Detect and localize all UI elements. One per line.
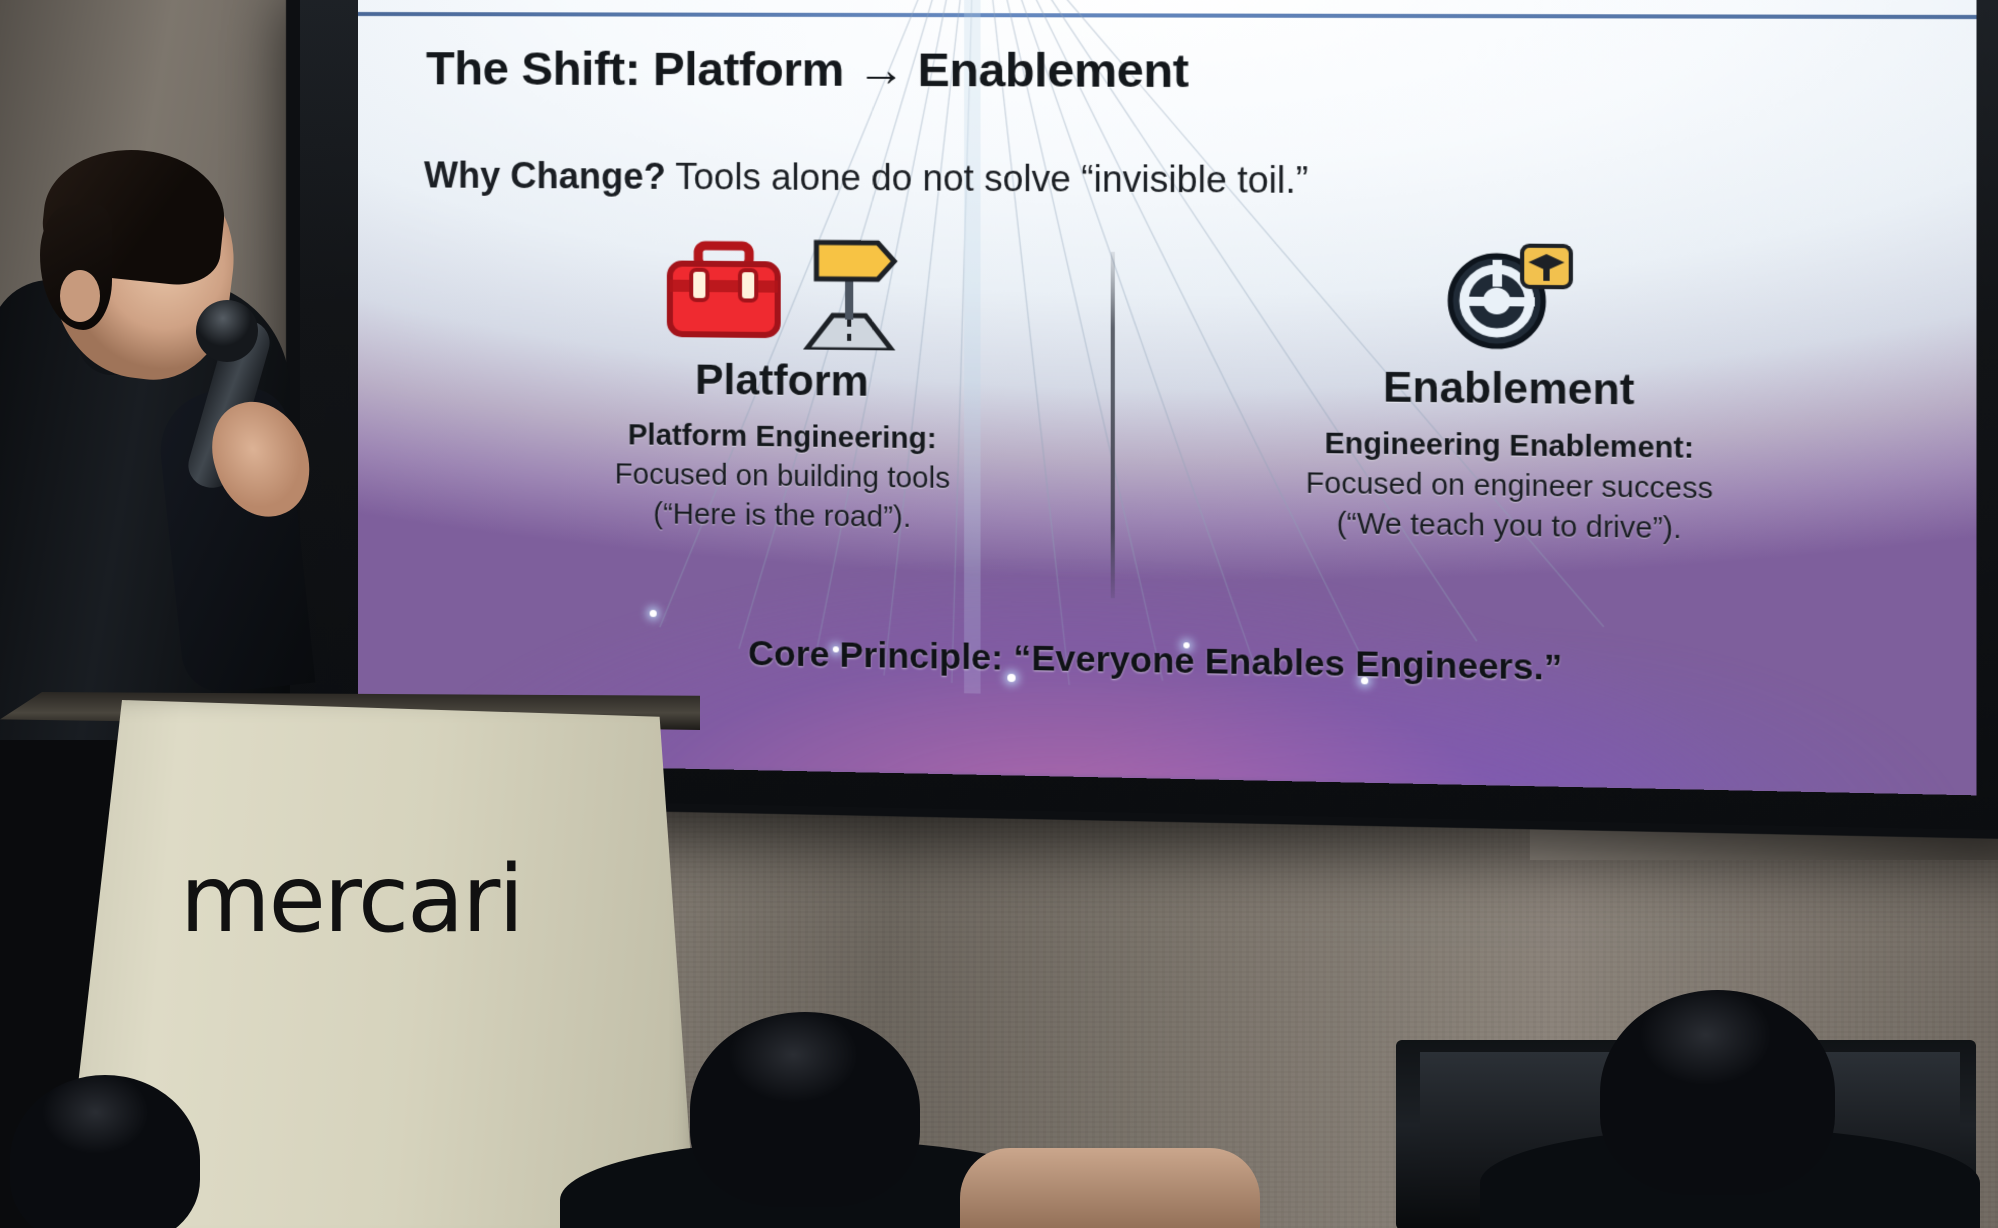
- podium-brand-logo: mercari: [180, 845, 600, 955]
- road-sign-icon: [798, 236, 900, 350]
- presentation-slide: The Shift: Platform → Enablement Why Cha…: [358, 0, 1977, 795]
- column-platform-lead: Platform Engineering:: [468, 417, 1100, 458]
- enablement-icon-row: [1183, 236, 1838, 363]
- column-enablement-line-2: (“We teach you to drive”).: [1183, 505, 1838, 548]
- slide-subtitle-lead: Why Change?: [424, 154, 666, 197]
- audience-head-center: [690, 1012, 920, 1207]
- audience-head-right: [1600, 990, 1835, 1195]
- slide-subtitle-rest: Tools alone do not solve “invisible toil…: [666, 156, 1308, 201]
- column-enablement-lead: Engineering Enablement:: [1183, 426, 1838, 468]
- steering-wheel-icon: [1442, 241, 1575, 357]
- slide-subtitle: Why Change? Tools alone do not solve “in…: [424, 154, 1308, 202]
- speaker-ear: [60, 270, 100, 322]
- column-platform-line-1: Focused on building tools: [468, 456, 1100, 498]
- slide-columns: Platform Platform Engineering: Focused o…: [398, 230, 1936, 636]
- slide-title: The Shift: Platform → Enablement: [426, 40, 1189, 98]
- platform-icon-row: [468, 231, 1100, 356]
- column-enablement-heading: Enablement: [1183, 361, 1838, 418]
- presentation-photo: The Shift: Platform → Enablement Why Cha…: [0, 0, 1998, 1228]
- audience-arm: [960, 1148, 1260, 1228]
- toolbox-icon: [664, 239, 784, 345]
- column-platform: Platform Platform Engineering: Focused o…: [468, 231, 1100, 538]
- column-platform-heading: Platform: [468, 353, 1100, 408]
- column-divider: [1111, 252, 1115, 598]
- column-enablement-line-1: Focused on engineer success: [1183, 466, 1838, 509]
- column-platform-line-2: (“Here is the road”).: [468, 496, 1100, 538]
- column-enablement: Enablement Engineering Enablement: Focus…: [1183, 236, 1838, 549]
